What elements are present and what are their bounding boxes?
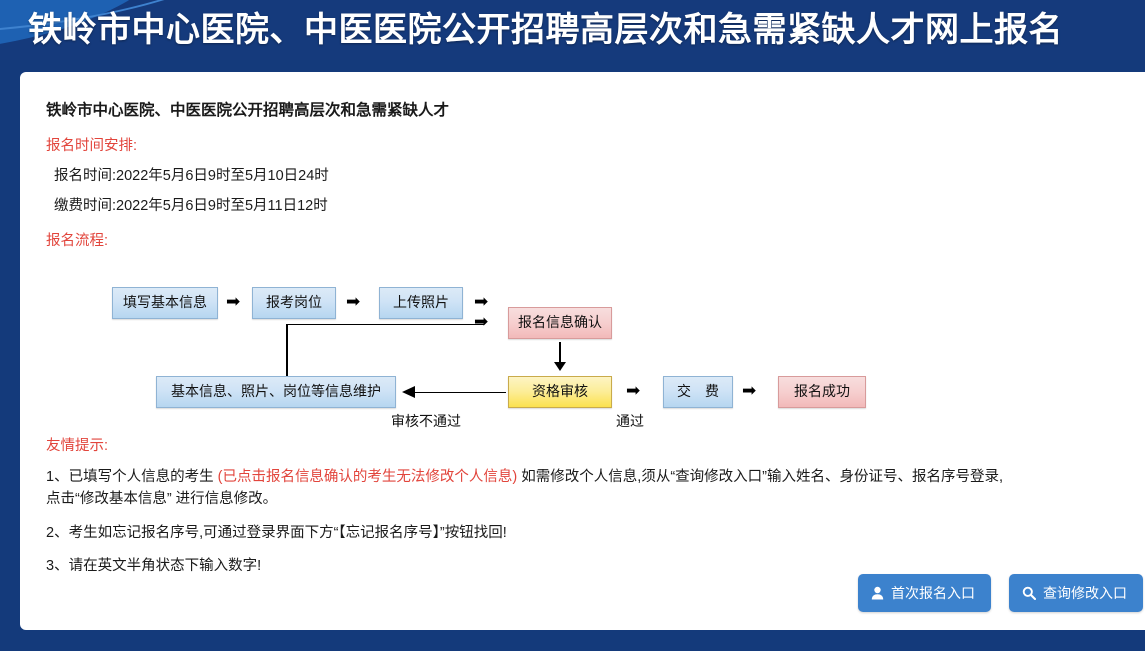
flow-fail-hline <box>414 392 506 394</box>
content-card: 铁岭市中心医院、中医医院公开招聘高层次和急需紧缺人才 报名时间安排: 报名时间:… <box>20 72 1145 630</box>
flow-box-fill-basic-info: 填写基本信息 <box>112 287 218 319</box>
registration-time-line: 报名时间:2022年5月6日9时至5月10日24时 <box>46 164 1139 185</box>
flow-box-label: 报名成功 <box>794 384 850 399</box>
flow-feedback-hline <box>286 324 484 326</box>
flow-arrow-left-head <box>402 386 415 398</box>
flow-box-qualification: 资格审核 <box>508 376 612 408</box>
first-register-button[interactable]: 首次报名入口 <box>858 574 991 612</box>
flow-box-apply-position: 报考岗位 <box>252 287 336 319</box>
flow-arrow-right-4: ➡ <box>626 383 640 400</box>
first-register-button-label: 首次报名入口 <box>891 583 975 603</box>
flow-label-pass: 通过 <box>616 411 644 431</box>
flow-box-payment: 交 费 <box>663 376 733 408</box>
flow-arrow-right-2: ➡ <box>346 294 360 311</box>
flow-box-label: 报考岗位 <box>266 295 322 310</box>
flow-label-fail: 审核不通过 <box>391 411 461 431</box>
flow-down-line <box>559 342 561 364</box>
payment-time-line: 缴费时间:2022年5月6日9时至5月11日12时 <box>46 194 1139 215</box>
tip-item-1: 1、已填写个人信息的考生 (已点击报名信息确认的考生无法修改个人信息) 如需修改… <box>46 466 1139 511</box>
page-banner: 铁岭市中心医院、中医医院公开招聘高层次和急需紧缺人才网上报名 <box>0 0 1145 60</box>
flow-box-upload-photo: 上传照片 <box>379 287 463 319</box>
tip-item-2: 2、考生如忘记报名序号,可通过登录界面下方“【忘记报名序号】”按钮找回! <box>46 522 1139 544</box>
flow-box-confirm-info: 报名信息确认 <box>508 307 612 339</box>
flow-box-label: 填写基本信息 <box>123 295 207 310</box>
flow-arrow-right-1: ➡ <box>226 294 240 311</box>
tips-list: 1、已填写个人信息的考生 (已点击报名信息确认的考生无法修改个人信息) 如需修改… <box>46 466 1139 578</box>
tip-1-part-c: 点击“修改基本信息” 进行信息修改。 <box>46 488 1139 510</box>
flow-box-label: 报名信息确认 <box>518 315 602 330</box>
flow-heading: 报名流程: <box>46 229 1139 250</box>
flow-box-label: 交 费 <box>677 384 719 399</box>
tips-heading: 友情提示: <box>46 434 1139 455</box>
schedule-heading: 报名时间安排: <box>46 134 1139 155</box>
flow-box-label: 资格审核 <box>532 384 588 399</box>
page-title: 铁岭市中心医院、中医医院公开招聘高层次和急需紧缺人才 <box>46 98 1139 120</box>
flow-arrow-down-head <box>554 362 566 371</box>
tip-1-warning: (已点击报名信息确认的考生无法修改个人信息) <box>218 469 518 485</box>
tip-1-part-b: 如需修改个人信息,须从“查询修改入口”输入姓名、身份证号、报名序号登录, <box>521 469 1003 485</box>
banner-title: 铁岭市中心医院、中医医院公开招聘高层次和急需紧缺人才网上报名 <box>28 6 1145 54</box>
search-icon <box>1022 586 1036 600</box>
action-button-row: 首次报名入口 查询修改入口 <box>858 574 1143 612</box>
flow-box-maintain-info: 基本信息、照片、岗位等信息维护 <box>156 376 396 408</box>
flow-box-success: 报名成功 <box>778 376 866 408</box>
flow-box-label: 基本信息、照片、岗位等信息维护 <box>171 384 381 399</box>
tip-1-part-a: 1、已填写个人信息的考生 <box>46 469 214 485</box>
flow-feedback-vline <box>286 324 288 377</box>
flow-box-label: 上传照片 <box>393 295 449 310</box>
query-modify-button[interactable]: 查询修改入口 <box>1009 574 1143 612</box>
flow-arrow-right-feedback: ➡ <box>474 314 488 331</box>
registration-flowchart: 填写基本信息 报考岗位 上传照片 报名信息确认 ➡ ➡ ➡ ➡ <box>46 260 1126 420</box>
user-icon <box>871 586 884 600</box>
flow-arrow-right-3: ➡ <box>474 294 488 311</box>
query-modify-button-label: 查询修改入口 <box>1043 583 1127 603</box>
flow-arrow-right-5: ➡ <box>742 383 756 400</box>
